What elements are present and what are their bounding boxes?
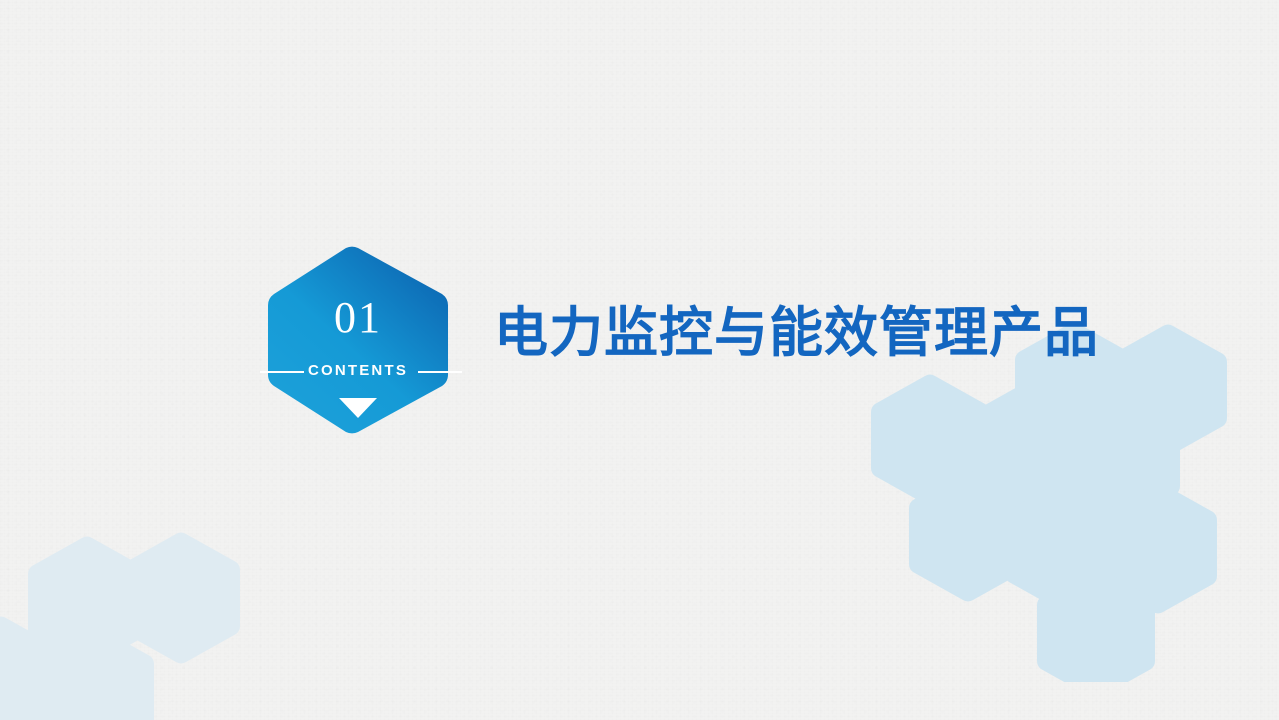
hexagon-cluster-right xyxy=(855,322,1275,682)
contents-badge[interactable]: 01 CONTENTS xyxy=(266,246,450,434)
hexagon-cluster-left xyxy=(0,508,270,720)
badge-number: 01 xyxy=(266,246,450,340)
page-title: 电力监控与能效管理产品 xyxy=(494,288,1099,367)
triangle-down-icon xyxy=(339,398,377,418)
badge-caption: CONTENTS xyxy=(266,362,450,379)
presentation-slide: 01 CONTENTS 电力监控与能效管理产品 xyxy=(0,0,1279,720)
